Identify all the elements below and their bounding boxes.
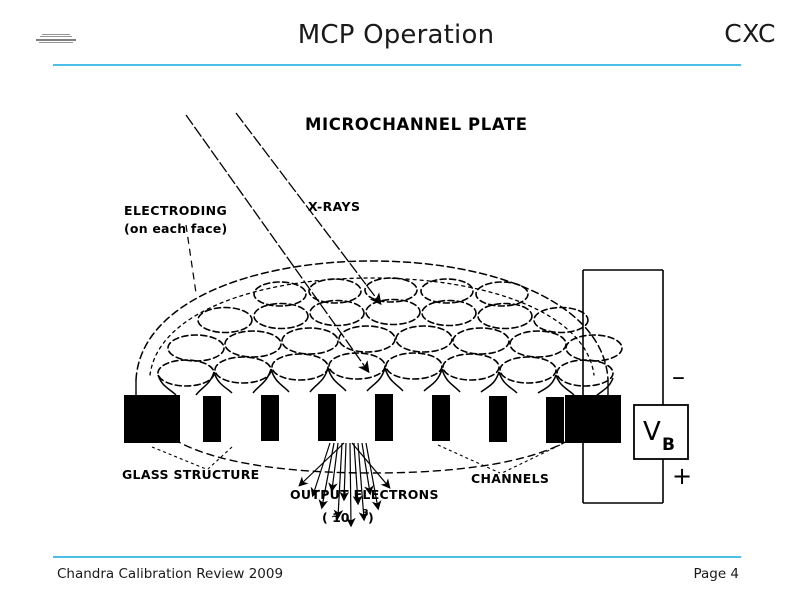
slide-header: MCP Operation CXC [0, 0, 792, 70]
label-electroding-sub: (on each face) [124, 221, 227, 236]
electrode-bar-right-wide [565, 395, 621, 443]
label-electroding: ELECTRODING [124, 203, 227, 218]
electrode-bar [375, 394, 393, 441]
header-divider [53, 64, 741, 66]
electrode-bar [489, 396, 507, 442]
electrode-bar [318, 394, 336, 441]
footer-page-number: Page 4 [693, 566, 739, 582]
bias-circuit: V B – + [583, 270, 692, 503]
channel-throats [158, 368, 613, 397]
label-channels: CHANNELS [471, 471, 549, 486]
electrode-bar-left-wide [124, 395, 180, 443]
output-electrons-qty-close: ) [368, 510, 374, 525]
electrode-bar [203, 396, 221, 442]
electrode-bars [124, 394, 621, 443]
electrode-bar [546, 397, 564, 443]
xray-beam-1 [186, 115, 368, 371]
channel-openings-row-2 [198, 300, 588, 333]
terminal-positive-label: + [672, 462, 692, 490]
label-xrays: X-RAYS [308, 199, 360, 214]
label-glass-structure: GLASS STRUCTURE [122, 467, 260, 482]
channel-openings-row-1 [254, 278, 528, 306]
electrode-bar [432, 395, 450, 441]
output-electrons-approx-sign: ~ [331, 510, 340, 523]
electrode-bar [261, 395, 279, 441]
channels-leader [438, 445, 560, 473]
voltage-source-symbol: V [643, 417, 661, 447]
label-output-electrons: OUTPUT ELECTRONS [290, 487, 439, 502]
footer-divider [53, 556, 741, 558]
figure-title: MICROCHANNEL PLATE [305, 115, 528, 134]
voltage-source-subscript: B [662, 435, 675, 455]
microchannel-plate-figure: MICROCHANNEL PLATE [0, 75, 792, 545]
page-title: MCP Operation [0, 20, 792, 50]
terminal-negative-label: – [672, 362, 685, 392]
label-output-electrons-quantity: ( 10 ~ 3 ) [322, 508, 374, 525]
footer-conference-label: Chandra Calibration Review 2009 [57, 566, 283, 582]
mcp-diagram: MICROCHANNEL PLATE [0, 75, 792, 545]
cxc-logo: CXC [724, 19, 776, 48]
